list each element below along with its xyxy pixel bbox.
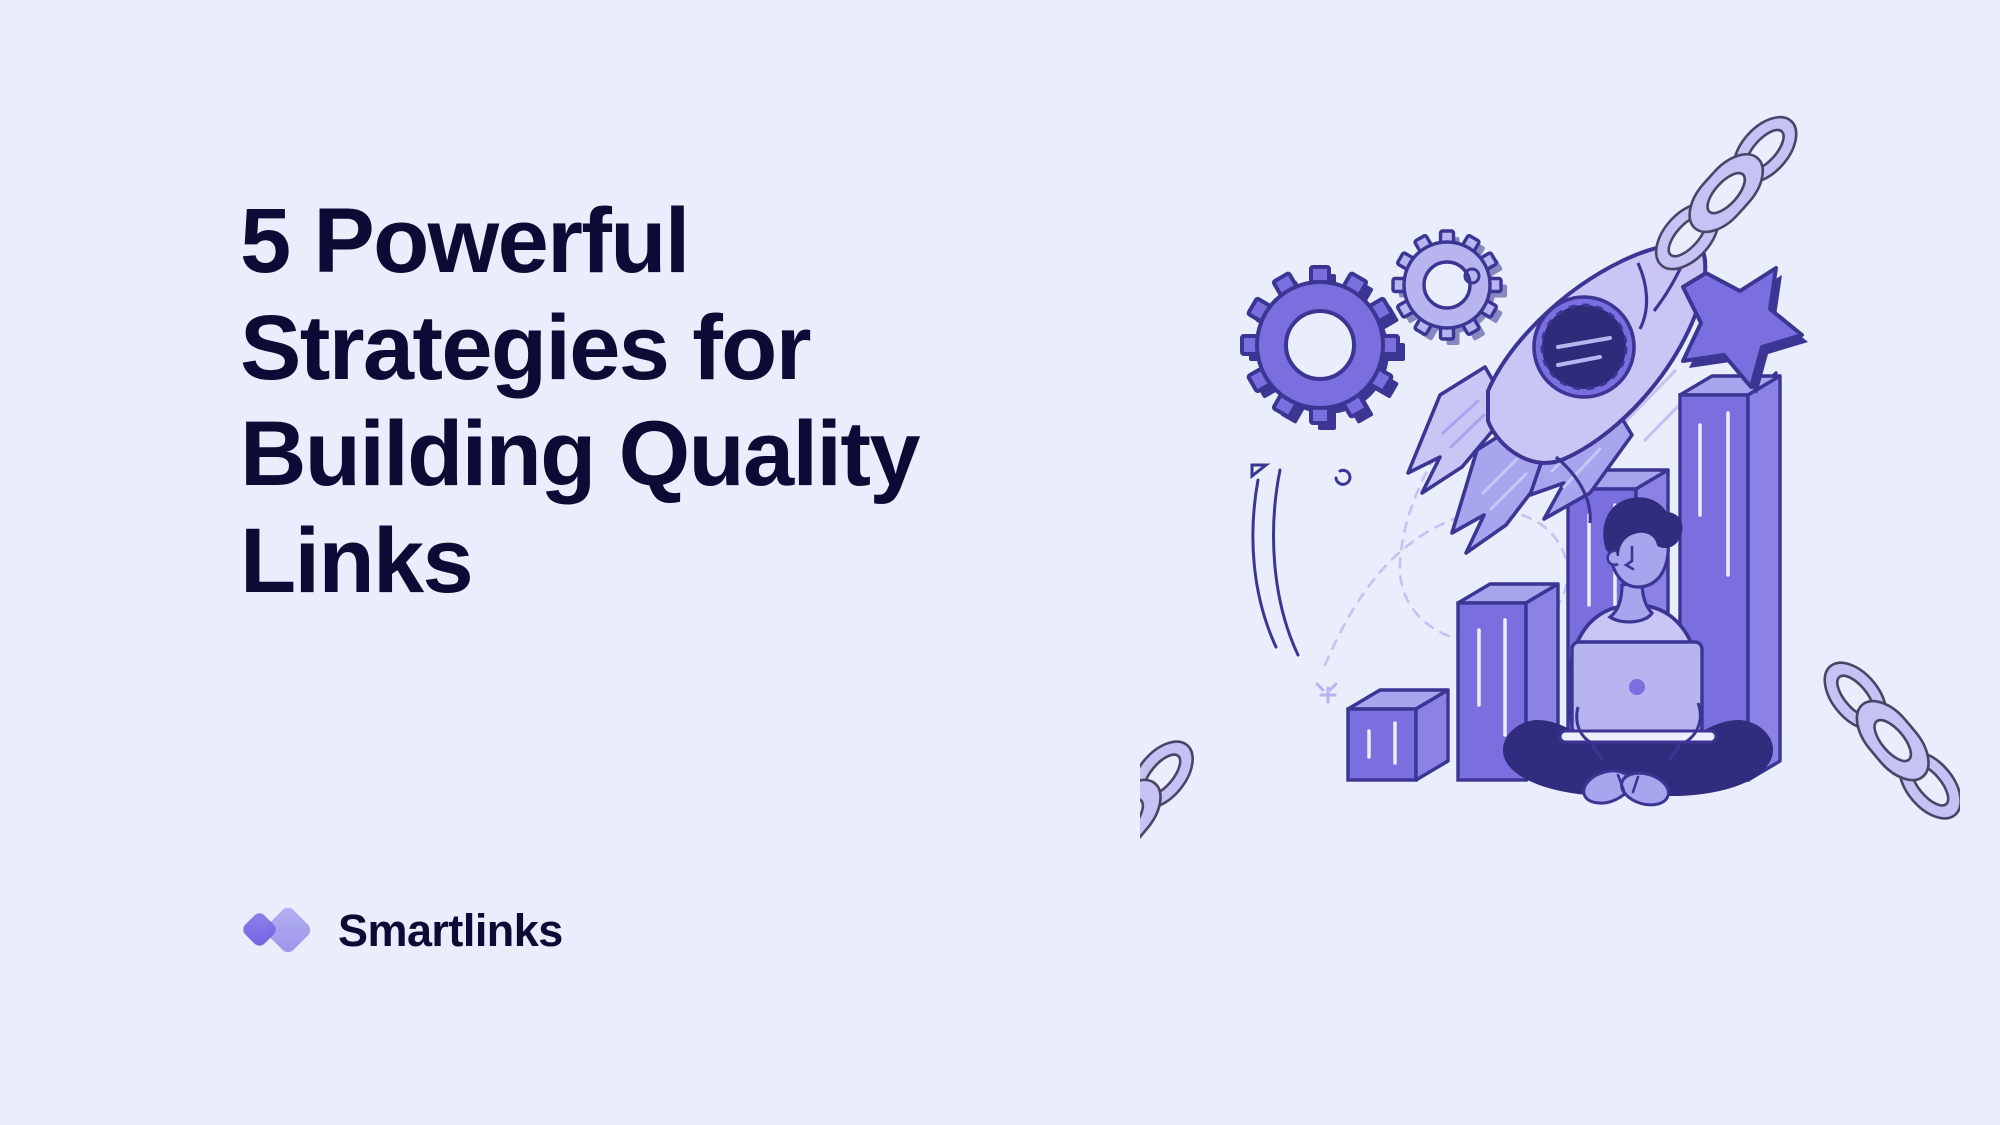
banner-root: 5 Powerful Strategies for Building Quali…	[0, 0, 2000, 1125]
chain-link-bottom-right	[1813, 651, 1960, 829]
page-title: 5 Powerful Strategies for Building Quali…	[240, 188, 1120, 615]
brand-logo-lockup[interactable]: Smartlinks	[240, 900, 563, 960]
bar-1	[1348, 690, 1448, 780]
brand-wordmark: Smartlinks	[338, 908, 563, 953]
star-icon	[1683, 268, 1808, 394]
chain-link-bottom-left	[1140, 730, 1205, 908]
two-diamonds-icon	[240, 900, 316, 960]
seo-growth-illustration	[1140, 95, 1960, 915]
motion-marks	[1252, 465, 1350, 655]
gear-small-icon	[1393, 231, 1507, 345]
gear-large-body	[1242, 267, 1405, 430]
chain-link-top-right	[1644, 106, 1808, 281]
left-content-column: 5 Powerful Strategies for Building Quali…	[240, 0, 1140, 1125]
sparkle-small-icon	[1317, 684, 1336, 702]
